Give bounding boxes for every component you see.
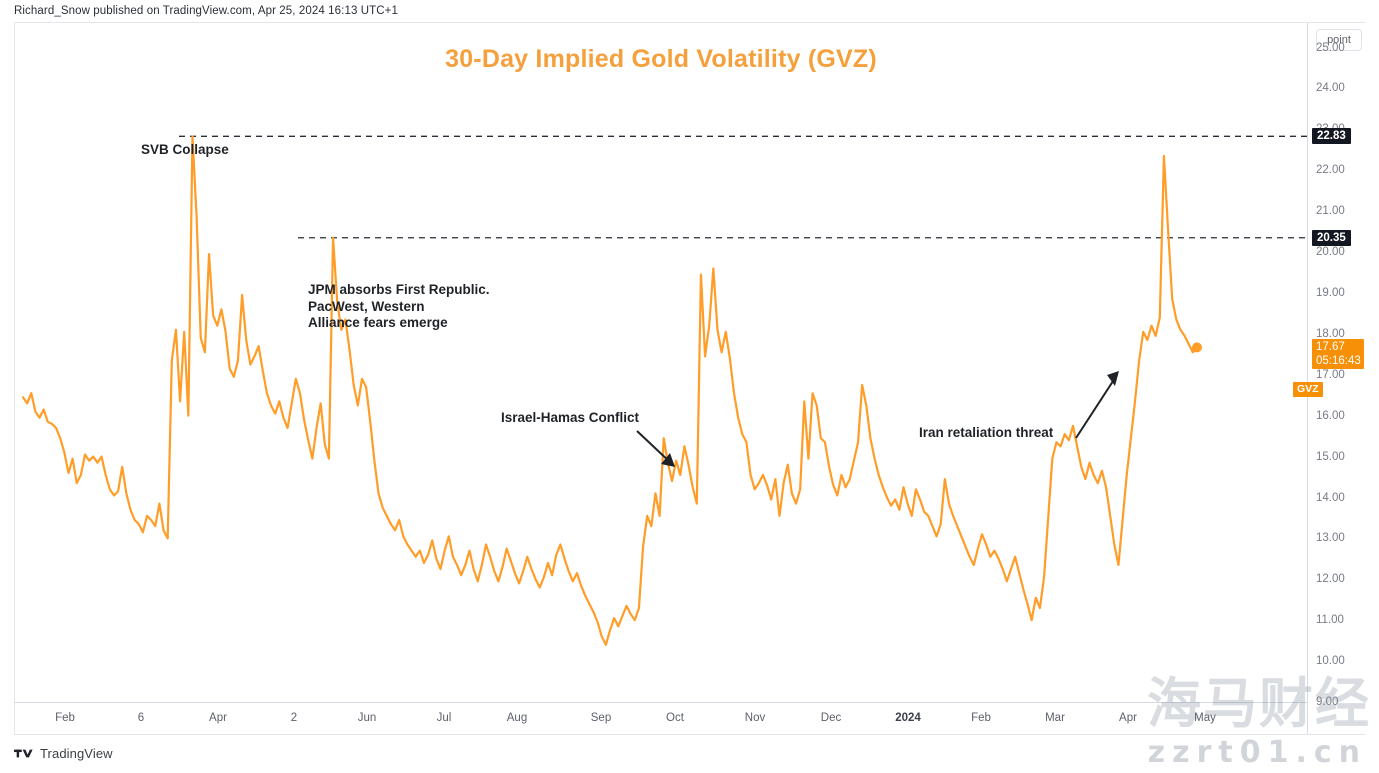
- time-tick-Sep: Sep: [591, 712, 611, 724]
- current-price-value: 17.67: [1316, 340, 1360, 354]
- price-tick-25.00: 25.00: [1316, 42, 1345, 54]
- tradingview-logo-icon: [14, 747, 34, 760]
- price-tick-11.00: 11.00: [1316, 614, 1344, 626]
- israel-hamas-arrow-icon: [637, 431, 675, 467]
- price-tick-21.00: 21.00: [1316, 205, 1345, 217]
- current-price-time: 05:16:43: [1316, 354, 1360, 368]
- time-tick-Apr: Apr: [1119, 712, 1137, 724]
- price-tick-10.00: 10.00: [1316, 655, 1345, 667]
- time-axis[interactable]: Feb6Apr2JunJulAugSepOctNovDec2024FebMarA…: [15, 702, 1307, 734]
- price-level-badge-20.35: 20.35: [1312, 230, 1351, 246]
- time-tick-Aug: Aug: [507, 712, 527, 724]
- symbol-tag-gvz[interactable]: GVZ: [1293, 382, 1323, 397]
- price-tick-13.00: 13.00: [1316, 532, 1345, 544]
- price-tick-22.00: 22.00: [1316, 164, 1345, 176]
- watermark-url: zzrt01.cn: [1148, 735, 1367, 770]
- time-tick-Dec: Dec: [821, 712, 841, 724]
- time-tick-Nov: Nov: [745, 712, 765, 724]
- annotation-arrows: [637, 371, 1119, 467]
- time-tick-Jun: Jun: [358, 712, 377, 724]
- time-tick-Jul: Jul: [437, 712, 452, 724]
- price-tick-16.00: 16.00: [1316, 410, 1345, 422]
- gvz-price-line: [23, 136, 1197, 644]
- price-line-chart: [15, 23, 1307, 702]
- attribution-text: Richard_Snow published on TradingView.co…: [14, 5, 398, 17]
- reference-lines: [179, 136, 1307, 237]
- price-tick-9.00: 9.00: [1316, 696, 1338, 708]
- price-tick-18.00: 18.00: [1316, 328, 1345, 340]
- price-tick-17.00: 17.00: [1316, 369, 1345, 381]
- time-tick-Oct: Oct: [666, 712, 684, 724]
- price-tick-24.00: 24.00: [1316, 82, 1345, 94]
- time-tick-Feb: Feb: [55, 712, 75, 724]
- time-tick-2024: 2024: [895, 712, 921, 724]
- last-price-dot: [1192, 342, 1202, 352]
- price-level-badge-22.83: 22.83: [1312, 128, 1351, 144]
- tradingview-footer-logo[interactable]: TradingView: [14, 746, 113, 761]
- price-tick-19.00: 19.00: [1316, 287, 1345, 299]
- plot-area[interactable]: 30-Day Implied Gold Volatility (GVZ) SVB…: [15, 23, 1307, 702]
- time-tick-Apr: Apr: [209, 712, 227, 724]
- iran-retaliation-arrow-icon: [1076, 371, 1119, 438]
- current-price-badge[interactable]: 17.67 05:16:43: [1312, 339, 1364, 369]
- price-tick-20.00: 20.00: [1316, 246, 1345, 258]
- price-axis[interactable]: point 25.0024.0023.0022.0021.0020.0019.0…: [1307, 23, 1366, 734]
- time-tick-2: 2: [291, 712, 297, 724]
- time-tick-6: 6: [138, 712, 144, 724]
- price-tick-12.00: 12.00: [1316, 573, 1345, 585]
- tradingview-logo-text: TradingView: [40, 746, 113, 761]
- price-tick-15.00: 15.00: [1316, 451, 1345, 463]
- time-tick-Feb: Feb: [971, 712, 991, 724]
- price-tick-14.00: 14.00: [1316, 492, 1345, 504]
- time-tick-May: May: [1194, 712, 1216, 724]
- time-tick-Mar: Mar: [1045, 712, 1065, 724]
- chart-frame: 30-Day Implied Gold Volatility (GVZ) SVB…: [14, 22, 1365, 735]
